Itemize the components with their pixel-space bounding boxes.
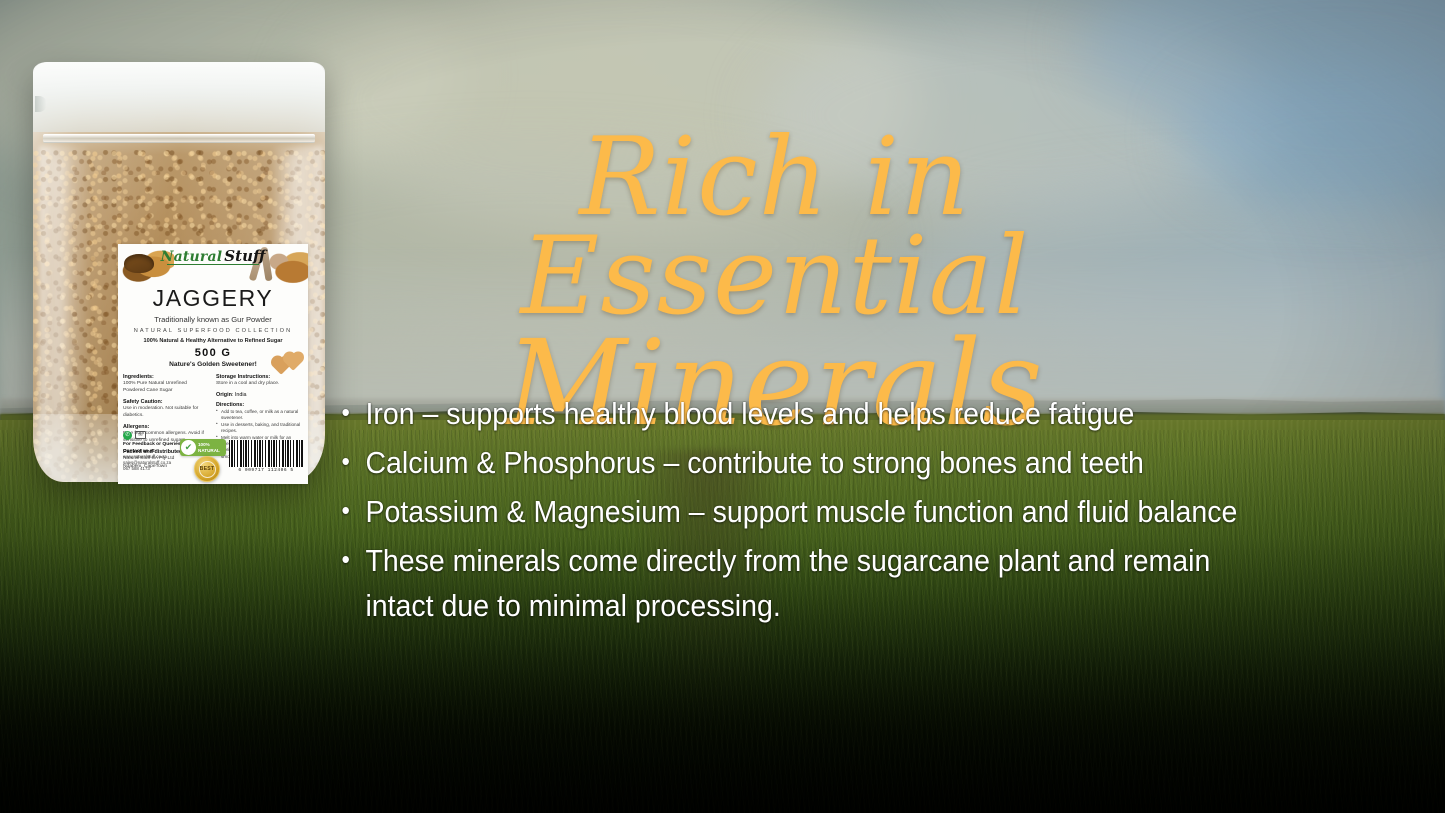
pouch-gloss-left xyxy=(55,158,71,458)
leaf-check-icon: ✔ xyxy=(181,440,196,455)
product-tagline: Nature's Golden Sweetener! xyxy=(169,361,257,368)
product-title: JAGGERY xyxy=(118,285,308,312)
storage-heading: Storage Instructions: xyxy=(216,374,303,380)
natural-badge: ✔ 100% NATURAL xyxy=(180,439,226,456)
barcode-bars xyxy=(229,440,303,467)
ingredients-heading: Ingredients: xyxy=(123,374,210,380)
product-label: NaturalStuff JAGGERY Traditionally known… xyxy=(118,244,308,484)
headline-line-1: Rich in Essential xyxy=(355,128,1195,327)
zip-lock xyxy=(43,134,315,143)
benefit-item-iron: Iron – supports healthy blood levels and… xyxy=(336,391,1256,436)
label-hero: NaturalStuff xyxy=(118,244,308,288)
product-collection: NATURAL SUPERFOOD COLLECTION xyxy=(118,328,308,334)
pouch-top-seal xyxy=(33,62,325,132)
benefits-list: Iron – supports healthy blood levels and… xyxy=(336,391,1336,632)
best-seal-text: BEST xyxy=(199,461,216,478)
whatsapp-icon: ✆ xyxy=(123,431,132,440)
brand-underline xyxy=(167,264,259,265)
brand-name-stuff: Stuff xyxy=(224,247,265,265)
natural-badge-text: 100% NATURAL xyxy=(198,442,220,453)
direction-item: Add to tea, coffee, or milk as a natural… xyxy=(216,409,303,422)
origin-heading: Origin: India xyxy=(216,392,303,398)
benefit-item-potassium: Potassium & Magnesium – support muscle f… xyxy=(336,489,1256,534)
storage-text: Store in a cool and dry place. xyxy=(216,381,303,388)
email-icon: ✉ xyxy=(135,431,146,439)
best-seal-badge: BEST xyxy=(194,456,220,482)
product-pouch[interactable]: NaturalStuff JAGGERY Traditionally known… xyxy=(33,62,325,482)
barcode-number: 6 009717 112406 5 xyxy=(229,468,303,473)
product-claim: 100% Natural & Healthy Alternative to Re… xyxy=(118,338,308,344)
product-subtitle: Traditionally known as Gur Powder xyxy=(118,315,308,324)
promotional-banner: NaturalStuff JAGGERY Traditionally known… xyxy=(0,0,1445,813)
product-tagline-wrap: Nature's Golden Sweetener! xyxy=(118,361,308,368)
directions-heading: Directions: xyxy=(216,402,303,408)
brand-name-natural: Natural xyxy=(161,249,223,265)
safety-text: Use in moderation. Not suitable for diab… xyxy=(123,406,210,420)
ingredients-text: 100% Pure Natural Unrefined Powdered Can… xyxy=(123,381,210,395)
safety-heading: Safety Caution: xyxy=(123,399,210,405)
benefit-item-calcium: Calcium & Phosphorus – contribute to str… xyxy=(336,440,1256,485)
barcode: 6 009717 112406 5 xyxy=(229,440,303,474)
jaggery-hearts-image xyxy=(274,355,304,373)
benefit-item-source: These minerals come directly from the su… xyxy=(336,538,1256,628)
